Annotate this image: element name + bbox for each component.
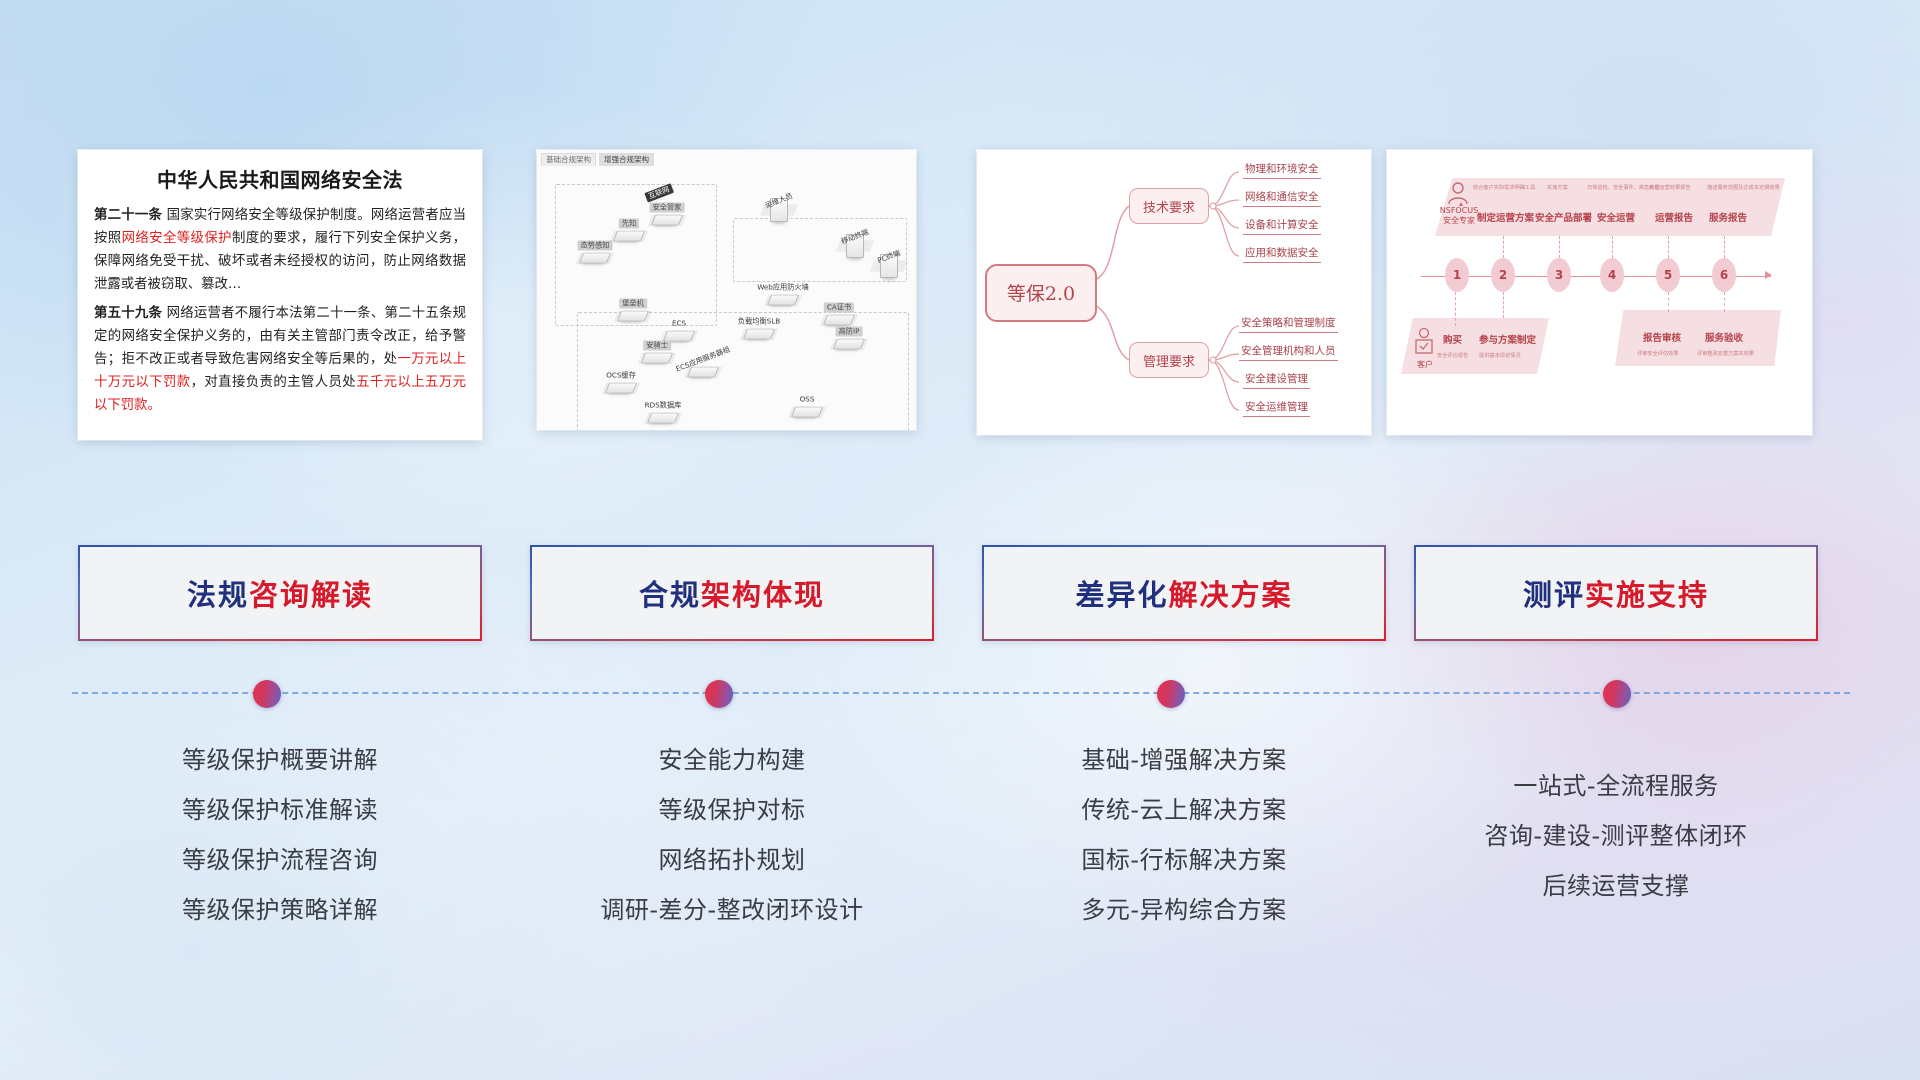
list-item: 基础-增强解决方案	[982, 735, 1386, 785]
node-mobile-terminal: 移动终端	[846, 234, 864, 258]
list-item: 等级保护概要讲解	[78, 735, 482, 785]
node-security-butler: 安全管家	[653, 212, 681, 229]
roadmap-step-title: 运营报告	[1655, 210, 1693, 224]
customer-step-sub: 评审整改完善方案实效果	[1697, 350, 1754, 357]
node-label: 先知	[619, 219, 639, 229]
node-label: RDS数据库	[642, 401, 685, 411]
node-label: 安全管家	[650, 203, 685, 213]
detail-column-solution: 基础-增强解决方案 传统-云上解决方案 国标-行标解决方案 多元-异构综合方案	[982, 735, 1386, 935]
mindmap-root-node: 等保2.0	[985, 264, 1097, 322]
roadmap-step-sub: 结合客户实际需求明确工具	[1473, 184, 1535, 191]
node-rds-database: RDS数据库	[649, 410, 677, 427]
headline-button-compliance-architecture[interactable]: 合规架构体现	[530, 545, 934, 641]
headline-suffix: 实施支持	[1585, 578, 1709, 612]
tab-enhanced-architecture[interactable]: 增强合规架构	[599, 153, 654, 166]
list-item: 多元-异构综合方案	[982, 885, 1386, 935]
card-law-document[interactable]: 中华人民共和国网络安全法 第二十一条 国家实行网络安全等级保护制度。网络运营者应…	[78, 150, 482, 440]
headline-button-regulation-consulting[interactable]: 法规咨询解读	[78, 545, 482, 641]
node-label: 态势感知	[578, 241, 613, 251]
mindmap-branch-technical: 技术要求	[1129, 188, 1209, 224]
list-item: 后续运营支撑	[1414, 861, 1818, 911]
node-anqishi: 安骑士	[643, 350, 671, 367]
list-item: 等级保护流程咨询	[78, 835, 482, 885]
customer-step-title: 参与方案制定	[1479, 332, 1536, 346]
mindmap-leaf: 设备和计算安全	[1243, 217, 1321, 235]
card-mindmap[interactable]: 等保2.0 技术要求 管理要求 物理和环境安全 网络和通信安全 设备和计算安全 …	[977, 150, 1371, 435]
customer-step-sub: 评审安全评估效果	[1637, 350, 1679, 357]
node-ops-staff: 运维人员	[770, 198, 788, 222]
card-cloud-architecture[interactable]: 基础合规架构 增强合规架构 态势感知 先知	[537, 150, 916, 430]
detail-list-row: 等级保护概要讲解 等级保护标准解读 等级保护流程咨询 等级保护策略详解 安全能力…	[0, 735, 1920, 955]
roadmap-tick	[1724, 236, 1726, 258]
list-item: 安全能力构建	[530, 735, 934, 785]
node-label: CA证书	[824, 303, 854, 313]
roadmap-band-customer-right	[1615, 310, 1781, 366]
node-oss: OSS	[793, 404, 821, 421]
node-pc-terminal: PC终端	[880, 254, 898, 278]
roadmap-tick	[1668, 292, 1670, 312]
node-label: Web应用防火墙	[754, 283, 812, 293]
headline-button-differentiated-solution[interactable]: 差异化解决方案	[982, 545, 1386, 641]
roadmap-step-title: 安全产品部署	[1535, 210, 1592, 224]
node-label: OSS	[797, 395, 818, 405]
roadmap-tick	[1503, 236, 1505, 258]
card-service-roadmap[interactable]: NSFOCUS 安全专家 客户 1 2 3 4 5 6	[1387, 150, 1812, 435]
customer-step-sub: 提供基本现状情况	[1479, 352, 1521, 359]
tab-basic-architecture[interactable]: 基础合规架构	[541, 153, 596, 166]
article-59-label: 第五十九条	[94, 306, 162, 321]
node-slb: 负载均衡SLB	[745, 326, 773, 343]
mindmap-leaf: 安全策略和管理制度	[1239, 315, 1338, 333]
mindmap-leaf: 网络和通信安全	[1243, 189, 1321, 207]
law-title: 中华人民共和国网络安全法	[94, 164, 466, 193]
law-document-body: 中华人民共和国网络安全法 第二十一条 国家实行网络安全等级保护制度。网络运营者应…	[78, 150, 482, 440]
roadmap-step-sub: 实施方案	[1547, 184, 1568, 191]
node-label: OCS缓存	[603, 371, 639, 381]
node-anti-ddos-ip: 高防IP	[835, 336, 863, 353]
slide-stage: 中华人民共和国网络安全法 第二十一条 国家实行网络安全等级保护制度。网络运营者应…	[0, 0, 1920, 1080]
node-ecs-app-group: ECS应用服务器组	[689, 364, 717, 381]
roadmap-step-dot: 2	[1491, 258, 1515, 292]
headline-prefix: 测评	[1523, 578, 1585, 612]
mindmap-branch-management: 管理要求	[1129, 342, 1209, 378]
list-item: 等级保护对标	[530, 785, 934, 835]
architecture-diagram: 基础合规架构 增强合规架构 态势感知 先知	[537, 150, 916, 430]
headline-suffix: 解决方案	[1169, 578, 1293, 612]
mindmap-leaf: 应用和数据安全	[1243, 245, 1321, 263]
node-xianzhi: 先知	[615, 228, 643, 245]
headline-suffix: 咨询解读	[249, 578, 373, 612]
list-item: 网络拓扑规划	[530, 835, 934, 885]
roadmap-step-title: 制定运营方案	[1477, 210, 1534, 224]
article-21-label: 第二十一条	[94, 208, 162, 223]
customer-role-label: 客户	[1411, 360, 1439, 370]
mindmap-leaf: 安全管理机构和人员	[1239, 343, 1338, 361]
detail-column-architecture: 安全能力构建 等级保护对标 网络拓扑规划 调研-差分-整改闭环设计	[530, 735, 934, 935]
timeline-dot-4[interactable]	[1603, 680, 1631, 708]
law-article-21: 第二十一条 国家实行网络安全等级保护制度。网络运营者应当按照网络安全等级保护制度…	[94, 204, 466, 296]
node-label: 负载均衡SLB	[735, 317, 783, 327]
node-bastion-host: 堡垒机	[619, 308, 647, 325]
roadmap-step-dot: 3	[1547, 258, 1571, 292]
roadmap-tick	[1724, 292, 1726, 312]
architecture-tabs: 基础合规架构 增强合规架构	[541, 153, 654, 166]
list-item: 调研-差分-整改闭环设计	[530, 885, 934, 935]
roadmap-tick	[1455, 292, 1457, 326]
architecture-canvas: 态势感知 先知 安全管家 堡垒机	[537, 166, 916, 430]
timeline-dashed-line	[72, 692, 1850, 696]
mindmap-leaf: 物理和环境安全	[1243, 161, 1321, 179]
headline-button-label: 法规咨询解读	[187, 572, 373, 614]
roadmap-step-dot: 6	[1712, 258, 1736, 292]
list-item: 传统-云上解决方案	[982, 785, 1386, 835]
expert-title: 安全专家	[1443, 216, 1475, 225]
roadmap-tick	[1668, 236, 1670, 258]
customer-step-title: 报告审核	[1643, 330, 1681, 344]
node-situation-awareness: 态势感知	[581, 250, 609, 267]
roadmap-step-title: 安全运营	[1597, 210, 1635, 224]
headline-prefix: 合规	[639, 578, 701, 612]
expert-org: NSFOCUS	[1440, 206, 1478, 215]
node-waf: Web应用防火墙	[769, 292, 797, 309]
node-label: 堡垒机	[619, 299, 647, 309]
roadmap-step-dot: 4	[1600, 258, 1624, 292]
headline-button-row: 法规咨询解读 合规架构体现 差异化解决方案 测评实施支持	[0, 545, 1920, 643]
screenshot-card-row: 中华人民共和国网络安全法 第二十一条 国家实行网络安全等级保护制度。网络运营者应…	[0, 150, 1920, 440]
customer-person-icon	[1411, 326, 1439, 360]
headline-suffix: 架构体现	[701, 578, 825, 612]
timeline-dot-1[interactable]	[253, 680, 281, 708]
list-item: 等级保护标准解读	[78, 785, 482, 835]
roadmap-axis-arrow	[1765, 271, 1772, 279]
list-item: 等级保护策略详解	[78, 885, 482, 935]
law-article-59: 第五十九条 网络运营者不履行本法第二十一条、第二十五条规定的网络安全保护义务的，…	[94, 302, 466, 417]
article-59-text-2: ，对直接负责的主管人员处	[191, 375, 357, 390]
list-item: 国标-行标解决方案	[982, 835, 1386, 885]
node-ocs-cache: OCS缓存	[607, 380, 635, 397]
headline-button-label: 测评实施支持	[1523, 572, 1709, 614]
list-item: 咨询-建设-测评整体闭环	[1414, 811, 1818, 861]
roadmap-tick	[1612, 236, 1614, 258]
detail-column-regulation: 等级保护概要讲解 等级保护标准解读 等级保护流程咨询 等级保护策略详解	[78, 735, 482, 935]
customer-step-title: 服务验收	[1705, 330, 1743, 344]
headline-button-assessment-support[interactable]: 测评实施支持	[1414, 545, 1818, 641]
node-label: 高防IP	[836, 327, 863, 337]
list-item: 一站式-全流程服务	[1414, 761, 1818, 811]
mindmap-leaf: 安全运维管理	[1243, 399, 1310, 417]
roadmap-tick	[1559, 236, 1561, 258]
headline-button-label: 合规架构体现	[639, 572, 825, 614]
roadmap-step-sub: 到位运营效果报告	[1649, 184, 1691, 191]
mindmap-diagram: 等保2.0 技术要求 管理要求 物理和环境安全 网络和通信安全 设备和计算安全 …	[977, 150, 1371, 435]
timeline-dot-3[interactable]	[1157, 680, 1185, 708]
roadmap-step-sub: 描述服务范围及达成本定期效果	[1707, 184, 1780, 191]
roadmap-diagram: NSFOCUS 安全专家 客户 1 2 3 4 5 6	[1387, 150, 1812, 435]
mindmap-leaf: 安全建设管理	[1243, 371, 1310, 389]
node-label: ECS	[669, 319, 689, 329]
article-21-highlight: 网络安全等级保护	[122, 231, 232, 246]
roadmap-step-dot: 1	[1445, 258, 1469, 292]
headline-prefix: 差异化	[1075, 578, 1168, 612]
customer-step-title: 购买	[1443, 332, 1462, 346]
customer-step-sub: 安全评估报告	[1437, 352, 1468, 359]
headline-prefix: 法规	[187, 578, 249, 612]
node-label: 安骑士	[643, 341, 671, 351]
roadmap-step-title: 服务报告	[1709, 210, 1747, 224]
timeline-dot-2[interactable]	[705, 680, 733, 708]
roadmap-tick	[1503, 292, 1505, 318]
roadmap-step-dot: 5	[1656, 258, 1680, 292]
headline-button-label: 差异化解决方案	[1075, 572, 1292, 614]
detail-column-assessment: 一站式-全流程服务 咨询-建设-测评整体闭环 后续运营支撑	[1414, 761, 1818, 911]
